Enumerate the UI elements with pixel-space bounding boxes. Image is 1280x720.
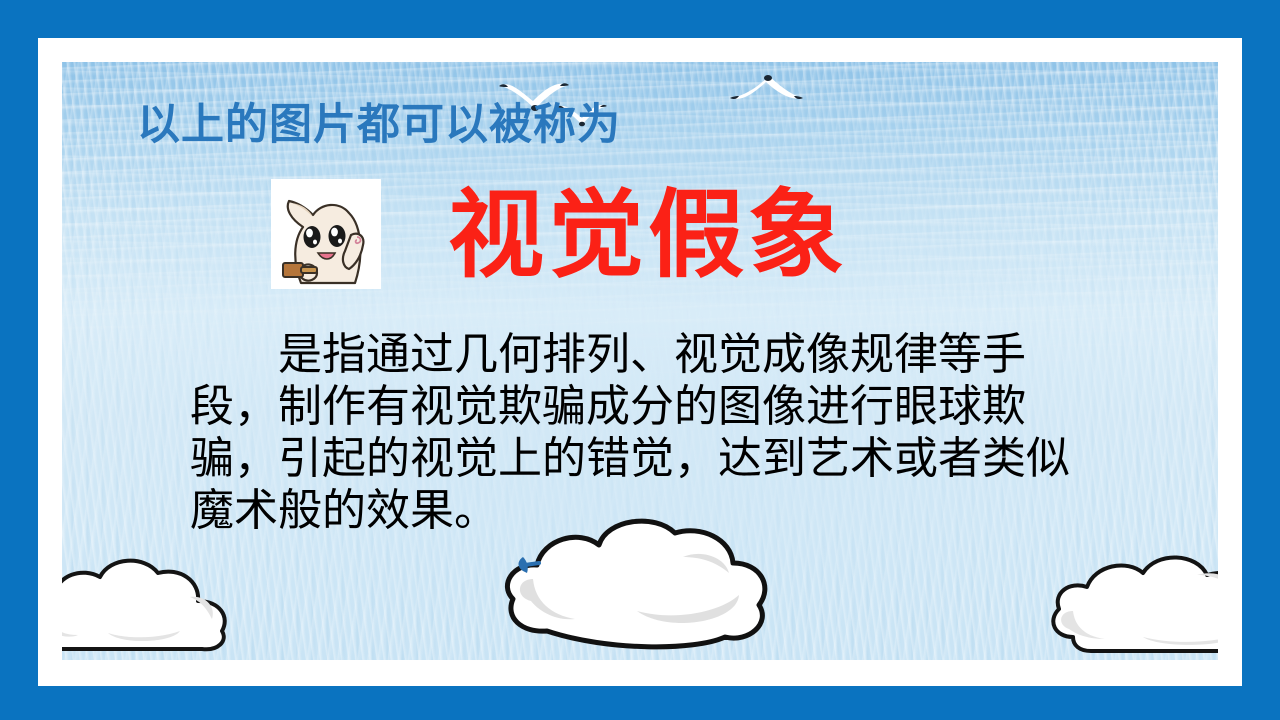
cloud-left — [62, 545, 280, 660]
mascot-image — [271, 179, 381, 289]
page-title: 以上的图片都可以被称为 — [137, 102, 621, 149]
body-paragraph: 是指通过几何排列、视觉成像规律等手段，制作有视觉欺骗成分的图像进行眼球欺骗，引起… — [190, 329, 1090, 537]
cartoon-mascot-holding-hammer-icon — [271, 179, 381, 289]
slide-content-canvas: 以上的图片都可以被称为 — [62, 62, 1218, 660]
presentation-slide: 以上的图片都可以被称为 — [0, 0, 1280, 720]
seagull-right-icon — [725, 74, 809, 108]
main-title: 视觉假象 — [448, 187, 848, 283]
cloud-right — [1047, 545, 1218, 660]
